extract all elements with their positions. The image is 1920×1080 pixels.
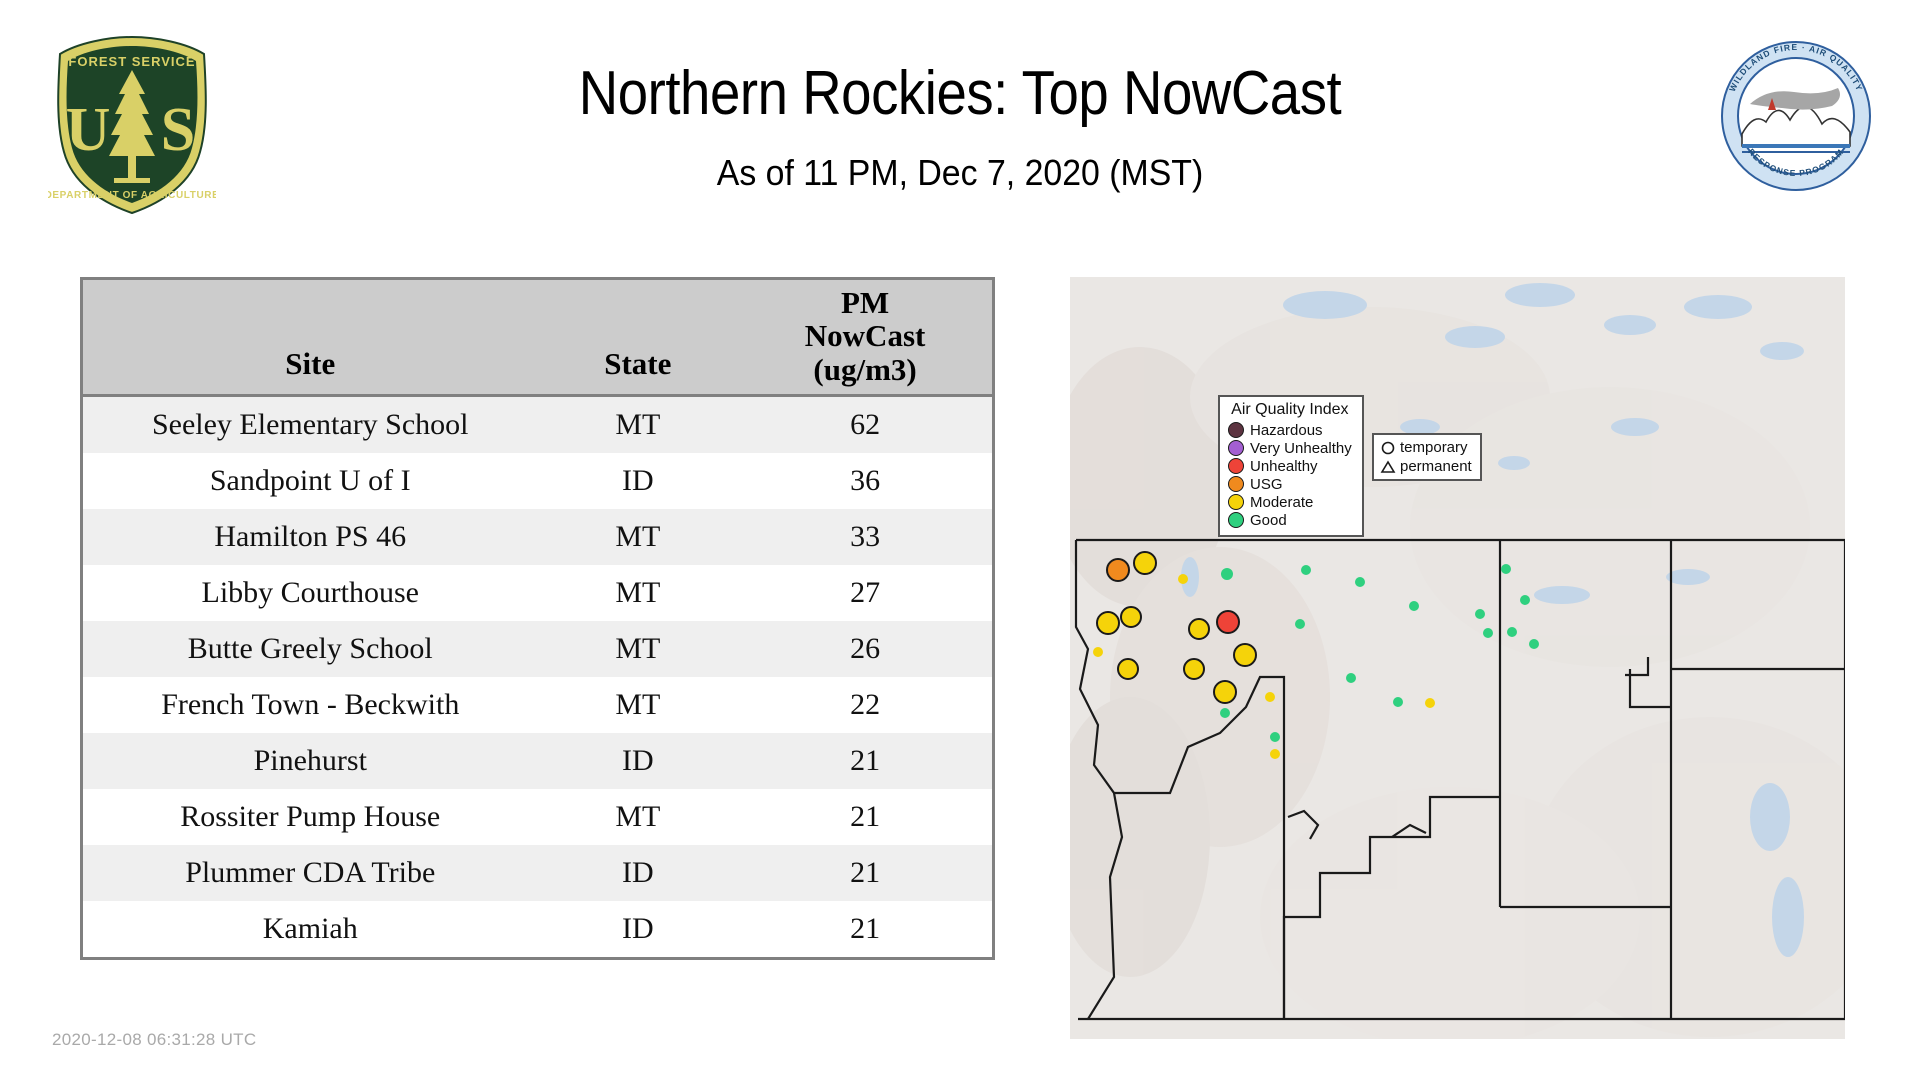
aqi-legend-row: Very Unhealthy [1228,439,1352,457]
fs-logo-top-text: FOREST SERVICE [68,54,195,69]
column-header-line-1: PM [742,286,988,319]
monitor-marker[interactable] [1121,607,1141,627]
monitor-type-legend: temporary permanent [1372,433,1482,481]
cell-state: ID [538,901,739,959]
aqi-swatch-icon [1228,512,1244,528]
column-header-site: Site [82,279,538,396]
table-row: Libby CourthouseMT27 [82,565,994,621]
table-row: French Town - BeckwithMT22 [82,677,994,733]
wildland-fire-air-quality-seal: WILDLAND FIRE · AIR QUALITY RESPONSE PRO… [1720,40,1872,192]
monitor-marker[interactable] [1507,627,1517,637]
page-title: Northern Rockies: Top NowCast [344,58,1576,129]
legend-row-temporary: temporary [1380,438,1472,457]
aqi-legend-row: Moderate [1228,493,1352,511]
cell-state: MT [538,789,739,845]
aqi-swatch-icon [1228,458,1244,474]
monitor-marker[interactable] [1221,568,1233,580]
generated-timestamp: 2020-12-08 06:31:28 UTC [52,1030,256,1050]
cell-state: MT [538,677,739,733]
monitor-marker[interactable] [1214,681,1236,703]
monitor-marker[interactable] [1529,639,1539,649]
cell-site: Kamiah [82,901,538,959]
aqi-swatch-icon [1228,422,1244,438]
aqi-legend-items: HazardousVery UnhealthyUnhealthyUSGModer… [1228,421,1352,529]
aqi-legend: Air Quality Index HazardousVery Unhealth… [1218,395,1364,537]
aqi-swatch-icon [1228,440,1244,456]
column-header-pm-nowcast: PM NowCast (ug/m3) [738,279,993,396]
aqi-legend-row: USG [1228,475,1352,493]
column-header-line-2: NowCast [742,319,988,352]
page-subtitle: As of 11 PM, Dec 7, 2020 (MST) [302,152,1618,194]
table-header-row: Site State PM NowCast (ug/m3) [82,279,994,396]
cell-value: 62 [738,396,993,454]
monitor-marker[interactable] [1097,612,1119,634]
cell-site: Sandpoint U of I [82,453,538,509]
column-header-line-3: (ug/m3) [742,353,988,386]
column-header-state: State [538,279,739,396]
aqi-swatch-icon [1228,476,1244,492]
table-row: Rossiter Pump HouseMT21 [82,789,994,845]
table-body: Seeley Elementary SchoolMT62Sandpoint U … [82,396,994,959]
aqi-legend-row: Hazardous [1228,421,1352,439]
monitor-marker[interactable] [1107,559,1129,581]
monitor-marker[interactable] [1184,659,1204,679]
cell-value: 21 [738,789,993,845]
cell-state: MT [538,565,739,621]
nowcast-table: Site State PM NowCast (ug/m3) Seeley Ele… [80,277,995,960]
aqi-legend-row: Good [1228,511,1352,529]
nowcast-table-container: Site State PM NowCast (ug/m3) Seeley Ele… [80,277,995,960]
aqi-legend-label: USG [1250,477,1283,492]
table-row: Hamilton PS 46MT33 [82,509,994,565]
cell-state: ID [538,453,739,509]
cell-state: MT [538,396,739,454]
monitor-marker[interactable] [1346,673,1356,683]
monitor-marker[interactable] [1134,552,1156,574]
legend-row-permanent: permanent [1380,457,1472,476]
aqi-legend-label: Moderate [1250,495,1313,510]
cell-state: MT [538,509,739,565]
table-row: Seeley Elementary SchoolMT62 [82,396,994,454]
cell-value: 36 [738,453,993,509]
table-row: Sandpoint U of IID36 [82,453,994,509]
monitor-marker[interactable] [1483,628,1493,638]
aqi-legend-label: Hazardous [1250,423,1323,438]
triangle-marker-icon [1380,459,1396,475]
table-row: PinehurstID21 [82,733,994,789]
cell-site: French Town - Beckwith [82,677,538,733]
aqi-swatch-icon [1228,494,1244,510]
monitor-marker[interactable] [1178,574,1188,584]
cell-site: Pinehurst [82,733,538,789]
cell-state: ID [538,733,739,789]
map-canvas [1070,277,1845,1039]
cell-value: 27 [738,565,993,621]
monitor-marker[interactable] [1520,595,1530,605]
monitor-marker[interactable] [1118,659,1138,679]
aqi-legend-label: Unhealthy [1250,459,1318,474]
monitor-marker[interactable] [1217,611,1239,633]
monitor-marker[interactable] [1301,565,1311,575]
cell-site: Hamilton PS 46 [82,509,538,565]
aqi-legend-row: Unhealthy [1228,457,1352,475]
air-quality-map[interactable]: Air Quality Index HazardousVery Unhealth… [1070,277,1845,1039]
cell-value: 26 [738,621,993,677]
cell-site: Rossiter Pump House [82,789,538,845]
monitor-marker[interactable] [1270,732,1280,742]
table-row: Butte Greely SchoolMT26 [82,621,994,677]
table-header: Site State PM NowCast (ug/m3) [82,279,994,396]
monitor-marker[interactable] [1189,619,1209,639]
cell-state: MT [538,621,739,677]
monitor-marker[interactable] [1093,647,1103,657]
fs-logo-letter-u: U [66,96,111,164]
cell-value: 33 [738,509,993,565]
fs-logo-bottom-text: DEPARTMENT OF AGRICULTURE [48,190,216,201]
legend-label-permanent: permanent [1400,458,1472,475]
aqi-legend-title: Air Quality Index [1228,401,1352,419]
aqi-legend-label: Very Unhealthy [1250,441,1352,456]
cell-value: 22 [738,677,993,733]
monitor-marker[interactable] [1220,708,1230,718]
monitor-marker[interactable] [1501,564,1511,574]
monitor-marker[interactable] [1265,692,1275,702]
cell-site: Butte Greely School [82,621,538,677]
monitor-marker[interactable] [1475,609,1485,619]
forest-service-logo: FOREST SERVICE U S DEPARTMENT OF AGRICUL… [48,32,216,218]
circle-marker-icon [1380,440,1396,456]
monitor-marker[interactable] [1425,698,1435,708]
fs-logo-letter-s: S [161,96,195,164]
table-row: Plummer CDA TribeID21 [82,845,994,901]
monitor-marker[interactable] [1393,697,1403,707]
cell-value: 21 [738,733,993,789]
cell-value: 21 [738,901,993,959]
cell-site: Libby Courthouse [82,565,538,621]
monitor-marker[interactable] [1234,644,1256,666]
cell-state: ID [538,845,739,901]
monitor-marker[interactable] [1295,619,1305,629]
monitor-marker[interactable] [1270,749,1280,759]
monitor-marker[interactable] [1409,601,1419,611]
cell-site: Seeley Elementary School [82,396,538,454]
monitor-marker[interactable] [1355,577,1365,587]
cell-value: 21 [738,845,993,901]
table-row: KamiahID21 [82,901,994,959]
cell-site: Plummer CDA Tribe [82,845,538,901]
legend-label-temporary: temporary [1400,439,1468,456]
aqi-legend-label: Good [1250,513,1287,528]
